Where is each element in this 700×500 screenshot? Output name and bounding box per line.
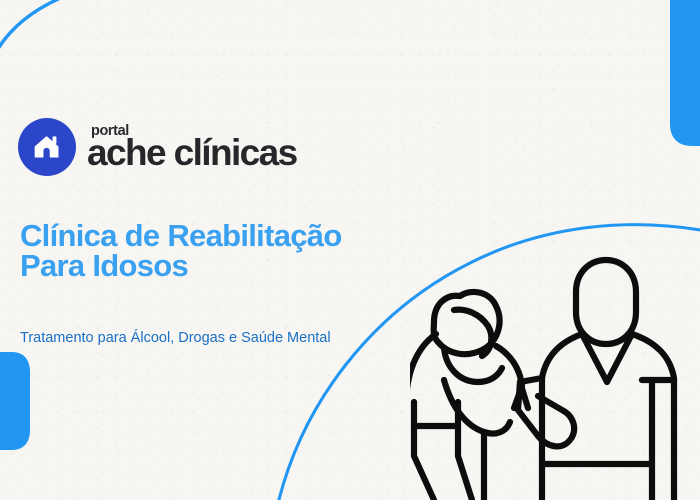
promo-banner: portal ache clínicas Clínica de Reabilit… (0, 0, 700, 500)
page-title: Clínica de Reabilitação Para Idosos (20, 221, 350, 282)
tab-right-top (670, 0, 700, 146)
arc-top-left-icon (0, 0, 70, 52)
elder-face-detail (454, 310, 491, 356)
page-subtitle: Tratamento para Álcool, Drogas e Saúde M… (20, 327, 350, 349)
brand-logo-lockup[interactable]: portal ache clínicas (18, 118, 297, 176)
caregiver-head (576, 260, 636, 344)
walker-frame-left (414, 402, 434, 500)
caregiver-illustration (410, 250, 700, 500)
brand-wordmark: portal ache clínicas (87, 122, 297, 171)
wordmark-main: ache clínicas (87, 134, 297, 172)
caregiver-arm-left (518, 378, 574, 446)
tab-left-bottom (0, 352, 30, 450)
house-in-circle-icon (18, 118, 76, 176)
caregiver-torso (542, 334, 582, 500)
elder-shoulder (496, 346, 522, 408)
